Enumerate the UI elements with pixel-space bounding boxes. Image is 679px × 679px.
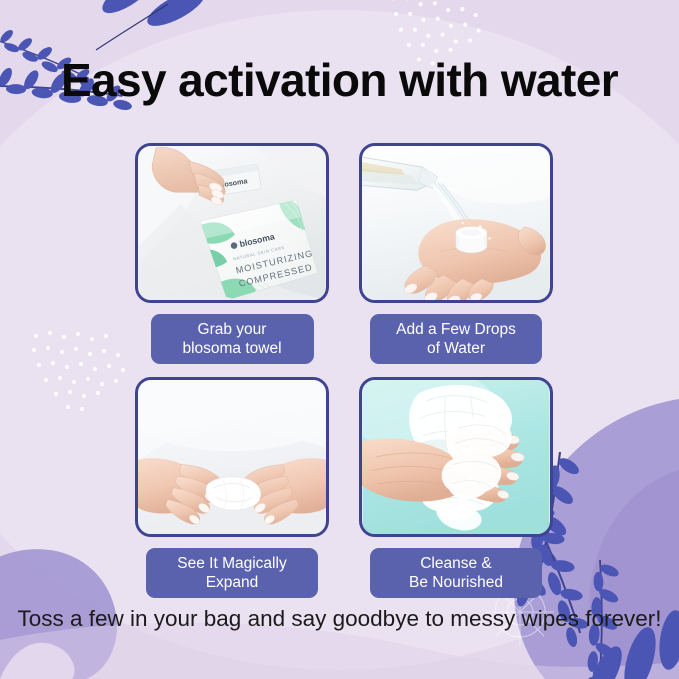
step-4-caption-line2: Be Nourished — [409, 574, 503, 591]
step-3: See It Magically Expand — [135, 377, 329, 598]
step-4-caption: Cleanse & Be Nourished — [370, 548, 542, 598]
step-3-caption: See It Magically Expand — [146, 548, 318, 598]
step-2-caption-line1: Add a Few Drops — [396, 321, 516, 338]
steps-grid: blosoma — [135, 143, 553, 598]
step-1: blosoma — [135, 143, 329, 364]
step-3-caption-line1: See It Magically — [177, 555, 286, 572]
photo-cleanse — [359, 377, 553, 537]
step-3-caption-line2: Expand — [206, 574, 259, 591]
page-title: Easy activation with water — [0, 56, 679, 104]
step-2-caption-line2: of Water — [427, 340, 485, 357]
step-2: Add a Few Drops of Water — [359, 143, 553, 364]
step-1-caption: Grab your blosoma towel — [151, 314, 314, 364]
step-1-caption-line2: blosoma towel — [182, 340, 281, 357]
step-1-caption-line1: Grab your — [198, 321, 267, 338]
step-4-caption-line1: Cleanse & — [420, 555, 492, 572]
footer-tagline: Toss a few in your bag and say goodbye t… — [0, 605, 679, 634]
photo-add-water — [359, 143, 553, 303]
photo-grab-towel: blosoma — [135, 143, 329, 303]
step-4: Cleanse & Be Nourished — [359, 377, 553, 598]
step-2-caption: Add a Few Drops of Water — [370, 314, 542, 364]
photo-expand — [135, 377, 329, 537]
